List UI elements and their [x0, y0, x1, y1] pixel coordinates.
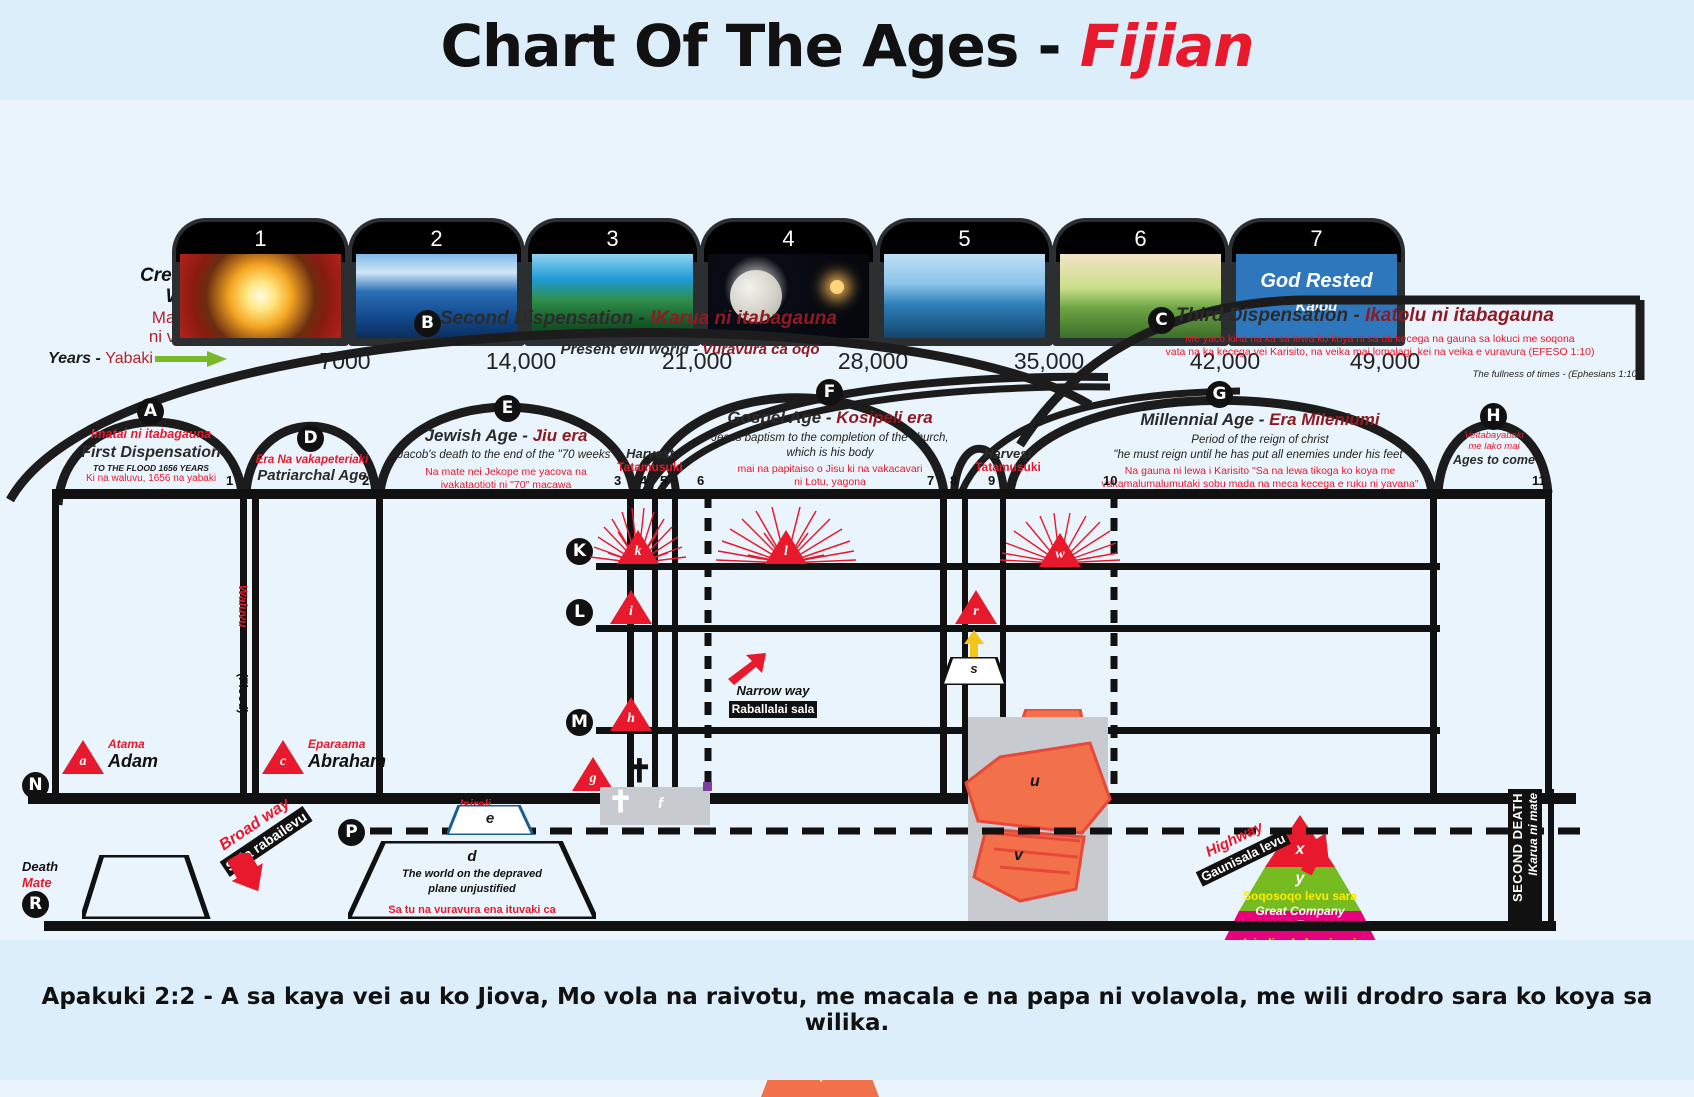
ages-diagram: B Second Dispensation - IKarua ni itabag…: [0, 285, 1694, 940]
title-bar: Chart Of The Ages - Fijian: [0, 0, 1694, 100]
trapezoid-d-letter: d: [348, 847, 596, 867]
marker-e-letter: e: [447, 810, 533, 827]
trapezoid-d-en1: The world on the depraved: [348, 867, 596, 882]
trapezoid-d: d The world on the depraved plane unjust…: [348, 841, 596, 919]
second-death-fj: IKarua ni mate: [1526, 793, 1540, 876]
highway-arrow-icon: [1296, 831, 1336, 875]
plane-of-justification-line: [0, 285, 1694, 940]
footer-band: Apakuki 2:2 - A sa kaya vei au ko Jiova,…: [0, 940, 1694, 1080]
trapezoid-d-en2: plane unjustified: [348, 882, 596, 897]
second-death-edge: [1548, 789, 1554, 923]
death-fj: Mate: [22, 875, 58, 891]
page-title-main: Chart Of The Ages -: [440, 12, 1079, 80]
second-death-block: SECOND DEATH IKarua ni mate: [1508, 789, 1542, 923]
page-title-highlight: Fijian: [1080, 12, 1254, 80]
death-en: Death: [22, 859, 58, 875]
creative-week-band: Creative Week Macawa ni veibuli 1 2 3 4 …: [0, 100, 1694, 290]
death-trapezoid: [82, 855, 224, 919]
death-label: Death Mate: [22, 859, 58, 892]
trapezoid-d-fj: Sa tu na vuravura ena ituvaki ca: [348, 903, 596, 918]
baseline-R: [44, 921, 1556, 931]
footer-scripture: Apakuki 2:2 - A sa kaya vei au ko Jiova,…: [0, 984, 1694, 1036]
marker-e-trapezoid: e: [447, 805, 533, 835]
second-death-en: SECOND DEATH: [1510, 793, 1525, 902]
trapezoid-d-text: d The world on the depraved plane unjust…: [348, 847, 596, 918]
page-title: Chart Of The Ages - Fijian: [0, 12, 1694, 80]
